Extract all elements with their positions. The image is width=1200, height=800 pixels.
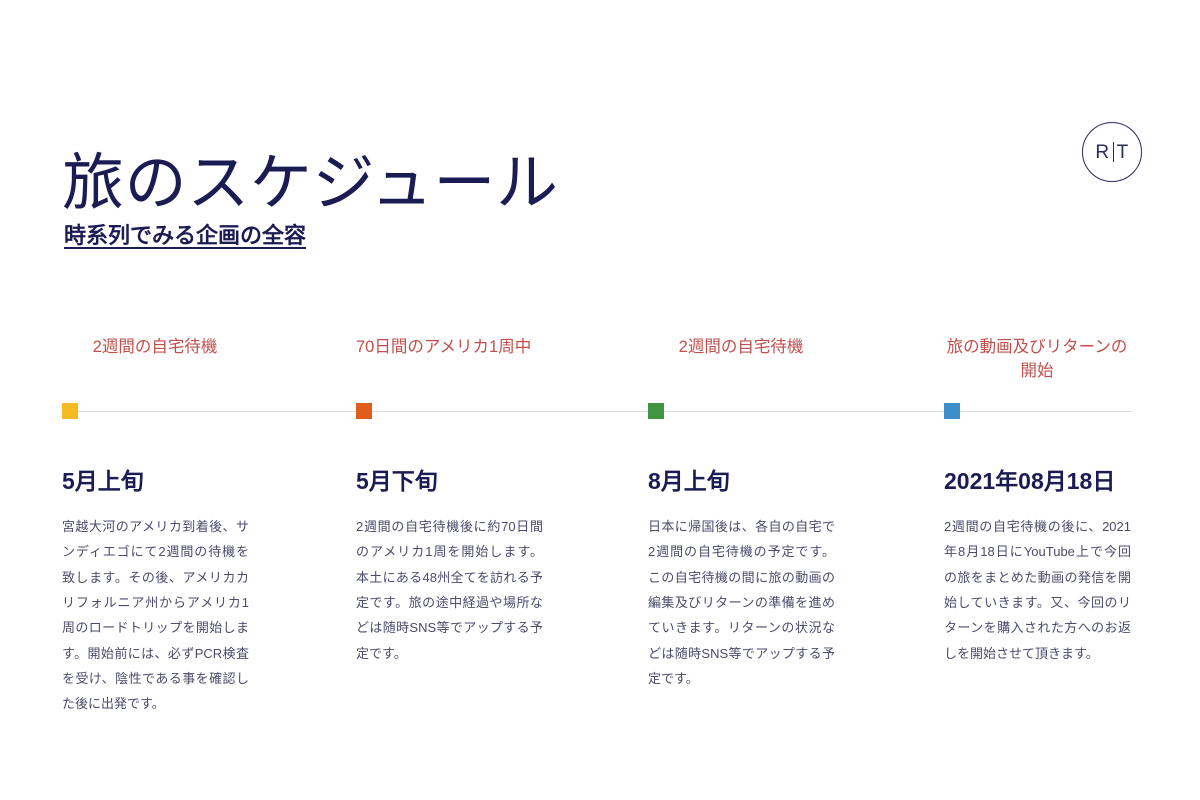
milestone-marker-row bbox=[944, 403, 1130, 421]
timeline-columns: 2週間の自宅待機 5月上旬 宮越大河のアメリカ到着後、サンディエゴにて2週間の待… bbox=[0, 0, 1200, 800]
milestone-date: 5月上旬 bbox=[62, 462, 262, 496]
milestone-date: 8月上旬 bbox=[648, 462, 848, 496]
slide-root: 旅のスケジュール 時系列でみる企画の全容 R T 2週間の自宅待機 5月上旬 宮… bbox=[0, 0, 1200, 800]
milestone-marker-row bbox=[356, 403, 542, 421]
milestone-body: 日本に帰国後は、各自の自宅で2週間の自宅待機の予定です。この自宅待機の間に旅の動… bbox=[648, 514, 835, 691]
milestone-marker-square bbox=[62, 403, 78, 419]
timeline-milestone: 2週間の自宅待機 bbox=[62, 336, 248, 396]
milestone-marker-row bbox=[648, 403, 834, 421]
milestone-heading: 2週間の自宅待機 bbox=[648, 336, 834, 396]
milestone-heading: 2週間の自宅待機 bbox=[62, 336, 248, 396]
milestone-heading: 旅の動画及びリターンの開始 bbox=[944, 336, 1130, 396]
milestone-marker-square bbox=[648, 403, 664, 419]
milestone-body: 2週間の自宅待機後に約70日間のアメリカ1周を開始します。本土にある48州全てを… bbox=[356, 514, 543, 666]
timeline-milestone: 70日間のアメリカ1周中 bbox=[356, 336, 542, 396]
timeline-milestone: 2週間の自宅待機 bbox=[648, 336, 834, 396]
milestone-heading: 70日間のアメリカ1周中 bbox=[356, 336, 542, 396]
milestone-date: 5月下旬 bbox=[356, 462, 556, 496]
milestone-marker-square bbox=[944, 403, 960, 419]
milestone-body: 宮越大河のアメリカ到着後、サンディエゴにて2週間の待機を致します。その後、アメリ… bbox=[62, 514, 249, 717]
milestone-date: 2021年08月18日 bbox=[944, 462, 1144, 496]
milestone-marker-row bbox=[62, 403, 248, 421]
timeline-milestone: 旅の動画及びリターンの開始 bbox=[944, 336, 1130, 396]
milestone-body: 2週間の自宅待機の後に、2021年8月18日にYouTube上で今回の旅をまとめ… bbox=[944, 514, 1131, 666]
milestone-marker-square bbox=[356, 403, 372, 419]
